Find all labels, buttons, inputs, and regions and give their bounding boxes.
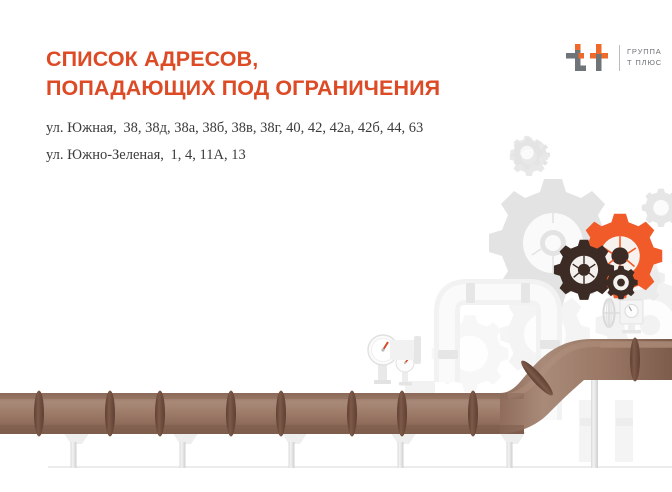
logo-brand-line2: Т ПЛЮС: [627, 58, 662, 69]
logo-divider: [619, 45, 620, 71]
pressure-gauge-large: [368, 335, 398, 384]
bg-gear-mid-left: [500, 289, 590, 379]
pipe-support-columns: [63, 340, 612, 468]
page-title-line-2: ПОПАДАЮЩИХ ПОД ОГРАНИЧЕНИЯ: [46, 74, 440, 103]
pipe-flange-rings: [34, 338, 640, 437]
dark-gear-medium: [554, 240, 614, 300]
gauge-box: [620, 300, 643, 334]
page-title-line-1: СПИСОК АДРЕСОВ,: [46, 45, 440, 74]
pressure-gauge-small: [396, 354, 414, 386]
background-gray-gears: [432, 136, 672, 392]
bg-gear-tiny-top: [510, 136, 543, 169]
t-plus-logo-mark: [564, 42, 612, 74]
t-plus-logo: ГРУППА Т ПЛЮС: [564, 42, 662, 74]
background-gray-pipes: [405, 283, 633, 462]
valve-wheel: [604, 299, 624, 327]
bg-gear-right-small: [642, 189, 672, 227]
orange-gear: [578, 214, 662, 298]
bg-gear-top-small: [510, 138, 548, 176]
logo-brand-line1: ГРУППА: [627, 47, 662, 58]
bg-gear-lower-right: [596, 271, 672, 380]
address-street: ул. Южная,: [46, 120, 117, 136]
dark-gear-small: [604, 266, 637, 299]
bg-gear-faint-left: [432, 315, 509, 392]
address-row: ул. Южно-Зеленая, 1, 4, 11А, 13: [46, 142, 423, 169]
logo-brand-text: ГРУППА Т ПЛЮС: [627, 47, 662, 68]
gauge-pipe-stub: [390, 336, 421, 364]
address-street: ул. Южно-Зеленая,: [46, 147, 164, 163]
main-brown-pipeline: [0, 339, 672, 434]
address-numbers: 38, 38д, 38а, 38б, 38в, 38г, 40, 42, 42а…: [123, 120, 423, 136]
page-title: СПИСОК АДРЕСОВ, ПОПАДАЮЩИХ ПОД ОГРАНИЧЕН…: [46, 45, 440, 102]
bg-gear-behind-valve: [607, 249, 665, 307]
bg-gear-large: [489, 179, 617, 307]
presentation-slide: ГРУППА Т ПЛЮС СПИСОК АДРЕСОВ, ПОПАДАЮЩИХ…: [0, 0, 672, 492]
address-list: ул. Южная, 38, 38д, 38а, 38б, 38в, 38г, …: [46, 115, 423, 169]
address-row: ул. Южная, 38, 38д, 38а, 38б, 38в, 38г, …: [46, 115, 423, 142]
address-numbers: 1, 4, 11А, 13: [171, 147, 246, 163]
